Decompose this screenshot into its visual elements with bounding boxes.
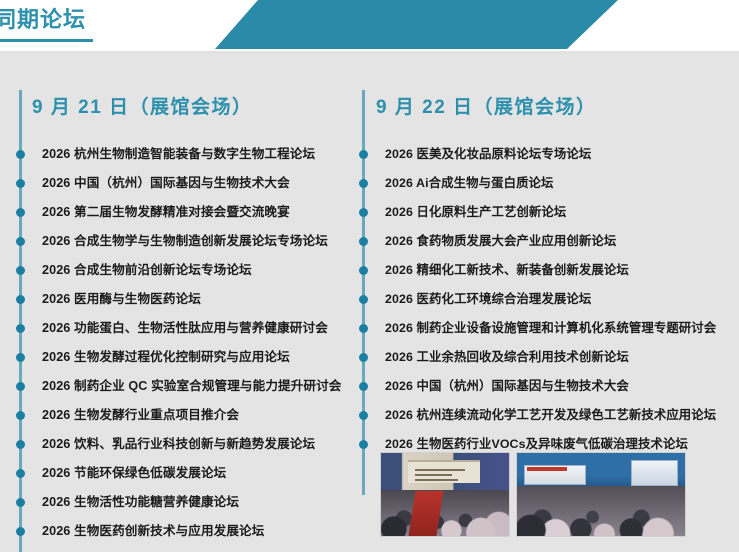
bullet-dot-icon xyxy=(16,382,25,391)
forum-title: 2026 工业余热回收及综合利用技术创新论坛 xyxy=(385,350,629,364)
bullet-dot-icon xyxy=(359,353,368,362)
bullet-dot-icon xyxy=(359,324,368,333)
forum-title: 2026 合成生物学与生物制造创新发展论坛专场论坛 xyxy=(42,234,328,248)
banner-text-line xyxy=(415,469,465,471)
bullet-dot-icon xyxy=(16,527,25,536)
bullet-dot-icon xyxy=(359,295,368,304)
bullet-dot-icon xyxy=(16,324,25,333)
list-item[interactable]: 2026 生物活性功能糖营养健康论坛 xyxy=(12,487,360,516)
list-item[interactable]: 2026 制药企业 QC 实验室合规管理与能力提升研讨会 xyxy=(12,371,360,400)
bullet-dot-icon xyxy=(16,469,25,478)
list-item[interactable]: 2026 医药化工环境综合治理发展论坛 xyxy=(358,284,739,313)
list-item[interactable]: 2026 合成生物前沿创新论坛专场论坛 xyxy=(12,255,360,284)
title-underline xyxy=(0,39,93,42)
list-item[interactable]: 2026 中国（杭州）国际基因与生物技术大会 xyxy=(12,168,360,197)
bullet-dot-icon xyxy=(359,208,368,217)
content-area: 9 月 21 日（展馆会场） 2026 杭州生物制造智能装备与数字生物工程论坛 … xyxy=(0,54,739,552)
page-title: 同期论坛 xyxy=(0,6,86,34)
conference-photo-1 xyxy=(380,452,510,537)
day-title-sept22: 9 月 22 日（展馆会场） xyxy=(376,92,597,119)
bullet-dot-icon xyxy=(16,295,25,304)
banner-text-line xyxy=(415,479,458,481)
forum-title: 2026 日化原料生产工艺创新论坛 xyxy=(385,205,566,219)
bullet-dot-icon xyxy=(359,266,368,275)
forum-title: 2026 生物发酵过程优化控制研究与应用论坛 xyxy=(42,350,290,364)
forum-title: 2026 生物医药创新技术与应用发展论坛 xyxy=(42,524,264,538)
forum-list-sept21: 2026 杭州生物制造智能装备与数字生物工程论坛 2026 中国（杭州）国际基因… xyxy=(12,139,360,545)
banner-text-line xyxy=(415,474,452,476)
bullet-dot-icon xyxy=(359,179,368,188)
list-item[interactable]: 2026 饮料、乳品行业科技创新与新趋势发展论坛 xyxy=(12,429,360,458)
forum-title: 2026 中国（杭州）国际基因与生物技术大会 xyxy=(385,379,629,393)
list-item[interactable]: 2026 第二届生物发酵精准对接会暨交流晚宴 xyxy=(12,197,360,226)
forum-title: 2026 制药企业 QC 实验室合规管理与能力提升研讨会 xyxy=(42,379,342,393)
bullet-dot-icon xyxy=(16,237,25,246)
list-item[interactable]: 2026 Ai合成生物与蛋白质论坛 xyxy=(358,168,739,197)
list-item[interactable]: 2026 日化原料生产工艺创新论坛 xyxy=(358,197,739,226)
forum-title: 2026 精细化工新技术、新装备创新发展论坛 xyxy=(385,263,629,277)
forum-title: 2026 合成生物前沿创新论坛专场论坛 xyxy=(42,263,252,277)
list-item[interactable]: 2026 功能蛋白、生物活性肽应用与营养健康研讨会 xyxy=(12,313,360,342)
forum-title: 2026 中国（杭州）国际基因与生物技术大会 xyxy=(42,176,290,190)
bullet-dot-icon xyxy=(359,237,368,246)
forum-list-sept22: 2026 医美及化妆品原料论坛专场论坛 2026 Ai合成生物与蛋白质论坛 20… xyxy=(358,139,739,458)
list-item[interactable]: 2026 生物医药创新技术与应用发展论坛 xyxy=(12,516,360,545)
forum-title: 2026 医美及化妆品原料论坛专场论坛 xyxy=(385,147,591,161)
forum-schedule-page: 同期论坛 9 月 21 日（展馆会场） 2026 杭州生物制造智能装备与数字生物… xyxy=(0,0,739,552)
photo-projection-screen xyxy=(631,460,678,485)
list-item[interactable]: 2026 食药物质发展大会产业应用创新论坛 xyxy=(358,226,739,255)
day-column-sept22: 9 月 22 日（展馆会场） 2026 医美及化妆品原料论坛专场论坛 2026 … xyxy=(358,54,739,552)
photo-audience xyxy=(381,490,509,536)
bullet-dot-icon xyxy=(16,440,25,449)
list-item[interactable]: 2026 杭州生物制造智能装备与数字生物工程论坛 xyxy=(12,139,360,168)
list-item[interactable]: 2026 合成生物学与生物制造创新发展论坛专场论坛 xyxy=(12,226,360,255)
forum-title: 2026 生物发酵行业重点项目推介会 xyxy=(42,408,239,422)
forum-title: 2026 食药物质发展大会产业应用创新论坛 xyxy=(385,234,616,248)
day-column-sept21: 9 月 21 日（展馆会场） 2026 杭州生物制造智能装备与数字生物工程论坛 … xyxy=(12,54,360,552)
bullet-dot-icon xyxy=(16,411,25,420)
photo-stage-banner xyxy=(408,460,480,484)
list-item[interactable]: 2026 制药企业设备设施管理和计算机化系统管理专题研讨会 xyxy=(358,313,739,342)
bullet-dot-icon xyxy=(16,498,25,507)
list-item[interactable]: 2026 医用酶与生物医药论坛 xyxy=(12,284,360,313)
list-item[interactable]: 2026 生物发酵行业重点项目推介会 xyxy=(12,400,360,429)
forum-title: 2026 节能环保绿色低碳发展论坛 xyxy=(42,466,226,480)
list-item[interactable]: 2026 工业余热回收及综合利用技术创新论坛 xyxy=(358,342,739,371)
page-header: 同期论坛 xyxy=(0,0,739,54)
forum-title: 2026 杭州生物制造智能装备与数字生物工程论坛 xyxy=(42,147,315,161)
forum-title: 2026 饮料、乳品行业科技创新与新趋势发展论坛 xyxy=(42,437,315,451)
forum-title: 2026 制药企业设备设施管理和计算机化系统管理专题研讨会 xyxy=(385,321,716,335)
forum-title: 2026 功能蛋白、生物活性肽应用与营养健康研讨会 xyxy=(42,321,328,335)
header-banner-shape xyxy=(0,0,739,49)
forum-title: 2026 生物活性功能糖营养健康论坛 xyxy=(42,495,239,509)
list-item[interactable]: 2026 精细化工新技术、新装备创新发展论坛 xyxy=(358,255,739,284)
forum-title: 2026 第二届生物发酵精准对接会暨交流晚宴 xyxy=(42,205,290,219)
photo-gallery xyxy=(380,452,686,537)
list-item[interactable]: 2026 医美及化妆品原料论坛专场论坛 xyxy=(358,139,739,168)
list-item[interactable]: 2026 节能环保绿色低碳发展论坛 xyxy=(12,458,360,487)
bullet-dot-icon xyxy=(16,266,25,275)
forum-title: 2026 Ai合成生物与蛋白质论坛 xyxy=(385,176,554,190)
bullet-dot-icon xyxy=(16,179,25,188)
bullet-dot-icon xyxy=(16,353,25,362)
photo-audience xyxy=(517,486,685,536)
bullet-dot-icon xyxy=(359,440,368,449)
forum-title: 2026 医用酶与生物医药论坛 xyxy=(42,292,201,306)
conference-photo-2 xyxy=(516,452,686,537)
bullet-dot-icon xyxy=(16,208,25,217)
list-item[interactable]: 2026 杭州连续流动化学工艺开发及绿色工艺新技术应用论坛 xyxy=(358,400,739,429)
bullet-dot-icon xyxy=(359,382,368,391)
forum-title: 2026 医药化工环境综合治理发展论坛 xyxy=(385,292,591,306)
day-title-sept21: 9 月 21 日（展馆会场） xyxy=(32,92,253,119)
forum-title: 2026 生物医药行业VOCs及异味废气低碳治理技术论坛 xyxy=(385,437,688,451)
bullet-dot-icon xyxy=(359,150,368,159)
bullet-dot-icon xyxy=(359,411,368,420)
list-item[interactable]: 2026 中国（杭州）国际基因与生物技术大会 xyxy=(358,371,739,400)
list-item[interactable]: 2026 生物发酵过程优化控制研究与应用论坛 xyxy=(12,342,360,371)
bullet-dot-icon xyxy=(16,150,25,159)
photo-banner-strip xyxy=(527,467,567,471)
forum-title: 2026 杭州连续流动化学工艺开发及绿色工艺新技术应用论坛 xyxy=(385,408,716,422)
